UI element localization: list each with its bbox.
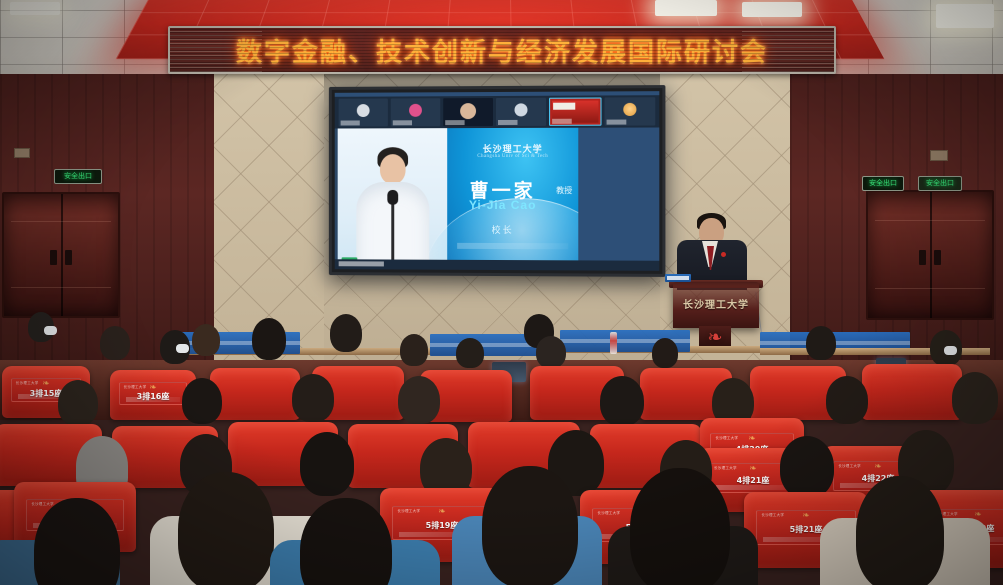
attendee-head [400, 334, 428, 366]
exit-sign-icon: 安全出口 [54, 169, 102, 184]
audience-seating: ❧ 长沙理工大学 3排15座 ❧ 长沙理工大学 3排16座 [0, 300, 1003, 585]
slide-speaker-role: 校长 [453, 223, 552, 236]
slide-title-pane: 长沙理工大学 Changsha Univ of Sci & Tech 曹一家 教… [448, 128, 579, 271]
banner-title-text: 数字金融、技术创新与经济发展国际研讨会 [170, 28, 834, 72]
seat-brand-text: 长沙理工大学 [761, 513, 784, 518]
banner-texture-left [170, 28, 262, 72]
slide-speaker-rank: 教授 [556, 185, 572, 196]
seat-crest-icon: ❧ [974, 510, 982, 519]
shared-slide: 长沙理工大学 Changsha Univ of Sci & Tech 曹一家 教… [338, 128, 579, 271]
seat-brand-text: 长沙理工大学 [715, 436, 738, 441]
video-thumbnail[interactable] [496, 98, 546, 126]
ceiling-light-1 [655, 0, 717, 16]
exit-sign-text: 安全出口 [926, 180, 954, 187]
ceiling-light-3 [936, 4, 994, 28]
video-thumbnail-active[interactable] [549, 97, 601, 125]
presenter-lapel-pin [721, 252, 726, 257]
attendee-head [182, 378, 222, 424]
door-handle[interactable] [65, 250, 72, 265]
attendee-head-foreground [300, 498, 392, 585]
attendee-head [806, 326, 836, 360]
conference-hall-photo: 数字金融、技术创新与经济发展国际研讨会 安全出口 安全出口 安全出口 [0, 0, 1003, 585]
attendee-head-foreground [630, 468, 730, 585]
attendee-head [952, 372, 998, 424]
video-thumbnail[interactable] [391, 98, 440, 126]
door-panel-line [875, 288, 984, 289]
attendee-head [58, 380, 98, 426]
seat-crest-icon: ❧ [438, 507, 446, 516]
seat-crest-icon: ❧ [748, 434, 756, 443]
attendee-head-foreground [178, 472, 274, 585]
slide-university-en: Changsha Univ of Sci & Tech [448, 154, 579, 159]
ceiling-light-2 [742, 2, 802, 17]
seat-number-tag: ❧ 长沙理工大学 3排16座 [119, 382, 188, 405]
face-mask [44, 326, 57, 335]
face-mask [944, 346, 957, 355]
wall-fixture [14, 148, 30, 158]
slide-speaker-name-en: Yi-Jia Cao [453, 198, 552, 212]
face-mask [176, 344, 189, 353]
microphone-icon [387, 190, 398, 205]
seat-crest-icon: ❧ [802, 511, 810, 520]
led-banner: 数字金融、技术创新与经济发展国际研讨会 [168, 26, 836, 74]
seat-brand-text: 长沙理工大学 [838, 464, 861, 469]
podium-nameplate [665, 274, 691, 282]
attendee-head [300, 432, 354, 496]
seat-brand-text: 长沙理工大学 [31, 502, 54, 507]
attendee-head [398, 376, 440, 424]
slide-subtext-bar [457, 243, 568, 249]
seat[interactable] [210, 368, 300, 420]
seat-brand-text: 长沙理工大学 [124, 385, 147, 390]
seat-brand-text: 长沙理工大学 [397, 509, 420, 514]
attendee-head [330, 314, 362, 352]
seat[interactable] [862, 364, 962, 420]
microphone-stem [391, 204, 394, 260]
screen-bottom-label [339, 261, 384, 266]
seat-brand-text: 长沙理工大学 [597, 511, 620, 516]
video-thumbnail[interactable] [339, 99, 388, 127]
door-leaf-split [61, 194, 63, 316]
seat-crest-icon: ❧ [749, 464, 757, 473]
attendee-head [292, 374, 334, 422]
attendee-head [536, 336, 566, 368]
screen-display: 长沙理工大学 Changsha Univ of Sci & Tech 曹一家 教… [335, 91, 660, 271]
exit-sign-text: 安全出口 [64, 173, 92, 180]
attendee-head [192, 324, 220, 356]
screen-bottom-bar [335, 259, 660, 271]
door-panel-line [11, 287, 111, 288]
seat-crest-icon: ❧ [42, 379, 50, 388]
seat-brand-text: 长沙理工大学 [16, 381, 39, 386]
door-panel-line [875, 220, 984, 221]
attendee-head-foreground [856, 476, 944, 585]
door-handle[interactable] [934, 250, 941, 265]
attendee-head [600, 376, 644, 426]
attendee-head [252, 318, 286, 360]
exit-sign-text: 安全出口 [869, 180, 897, 187]
attendee-head [456, 338, 484, 368]
attendee-head [826, 376, 868, 424]
attendee-head [100, 326, 130, 360]
video-thumbnail-strip [335, 95, 660, 128]
ceiling-light-4 [10, 2, 60, 15]
speaker-head [380, 154, 406, 184]
wall-fixture [930, 150, 948, 161]
exit-sign-icon: 安全出口 [918, 176, 962, 191]
video-thumbnail[interactable] [443, 98, 493, 126]
seat-brand-text: 长沙理工大学 [714, 466, 737, 471]
door-panel-line [11, 221, 111, 222]
seat-crest-icon: ❧ [874, 462, 882, 471]
banner-texture-right [742, 28, 834, 72]
attendee-head [652, 338, 678, 368]
exit-sign-icon: 安全出口 [862, 176, 904, 191]
attendee-head-foreground [482, 466, 578, 585]
projection-screen: 长沙理工大学 Changsha Univ of Sci & Tech 曹一家 教… [329, 85, 666, 277]
door-handle[interactable] [919, 250, 926, 265]
door-handle[interactable] [50, 250, 57, 265]
attendee-head [780, 436, 834, 498]
video-thumbnail[interactable] [605, 97, 656, 125]
